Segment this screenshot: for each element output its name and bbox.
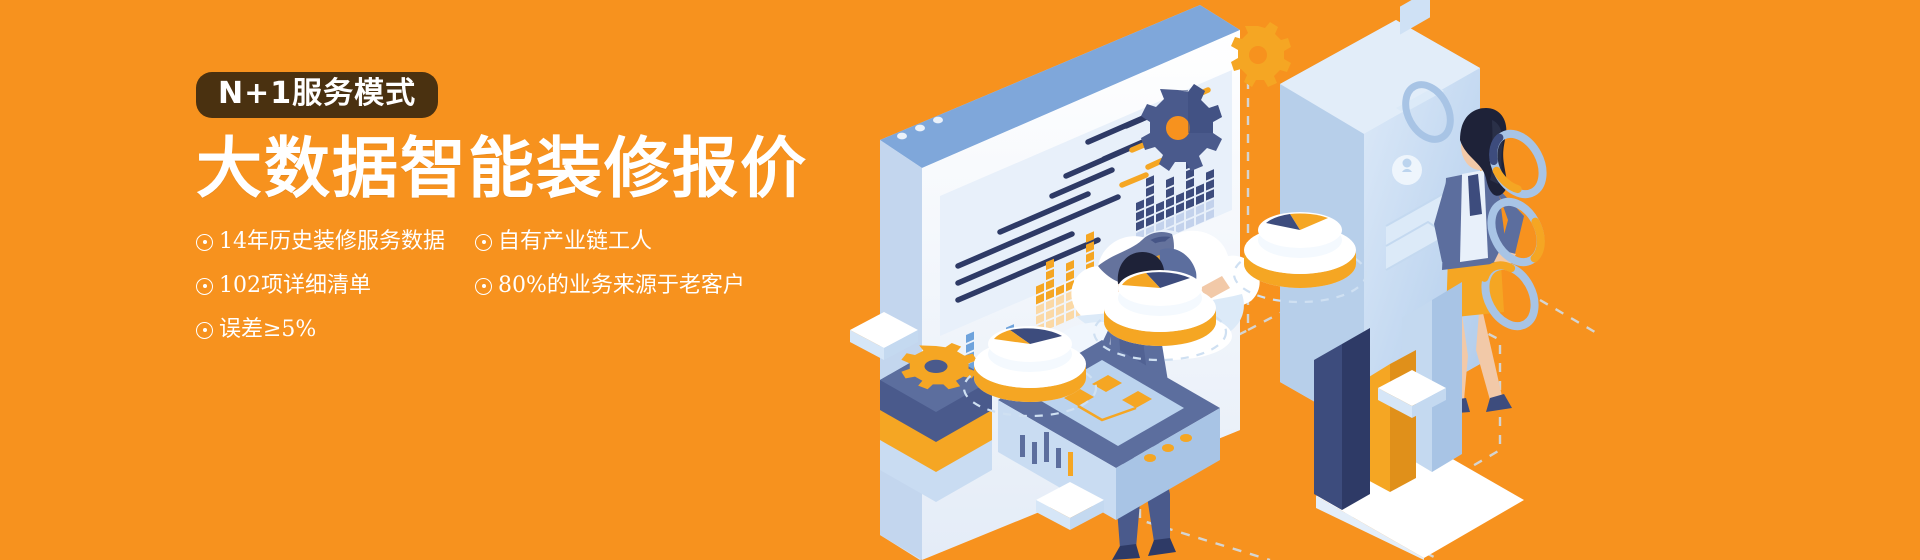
list-item: 14年历史装修服务数据	[196, 231, 445, 253]
isometric-illustration	[840, 0, 1920, 560]
copy-block: N+1服务模式 大数据智能装修报价 14年历史装修服务数据 102项详细清单 误…	[196, 72, 916, 363]
page-title: 大数据智能装修报价	[196, 134, 916, 203]
list-item: 自有产业链工人	[475, 231, 745, 253]
list-item-label: 102项详细清单	[219, 275, 371, 297]
bullet-column-left: 14年历史装修服务数据 102项详细清单 误差≥5%	[196, 231, 445, 363]
list-item: 102项详细清单	[196, 275, 445, 297]
bullet-column-right: 自有产业链工人 80%的业务来源于老客户	[475, 231, 745, 319]
circled-dot-icon	[196, 234, 213, 251]
service-mode-badge: N+1服务模式	[196, 72, 438, 118]
feature-bullets: 14年历史装修服务数据 102项详细清单 误差≥5% 自有产业链工人	[196, 231, 916, 363]
circled-dot-icon	[475, 278, 492, 295]
circled-dot-icon	[475, 234, 492, 251]
list-item-label: 自有产业链工人	[498, 231, 652, 253]
list-item-label: 80%的业务来源于老客户	[498, 275, 745, 297]
list-item: 80%的业务来源于老客户	[475, 275, 745, 297]
circled-dot-icon	[196, 322, 213, 339]
circled-dot-icon	[196, 278, 213, 295]
list-item-label: 14年历史装修服务数据	[219, 231, 445, 253]
list-item: 误差≥5%	[196, 319, 445, 341]
marketing-banner: N+1服务模式 大数据智能装修报价 14年历史装修服务数据 102项详细清单 误…	[0, 0, 1920, 560]
list-item-label: 误差≥5%	[219, 319, 316, 341]
